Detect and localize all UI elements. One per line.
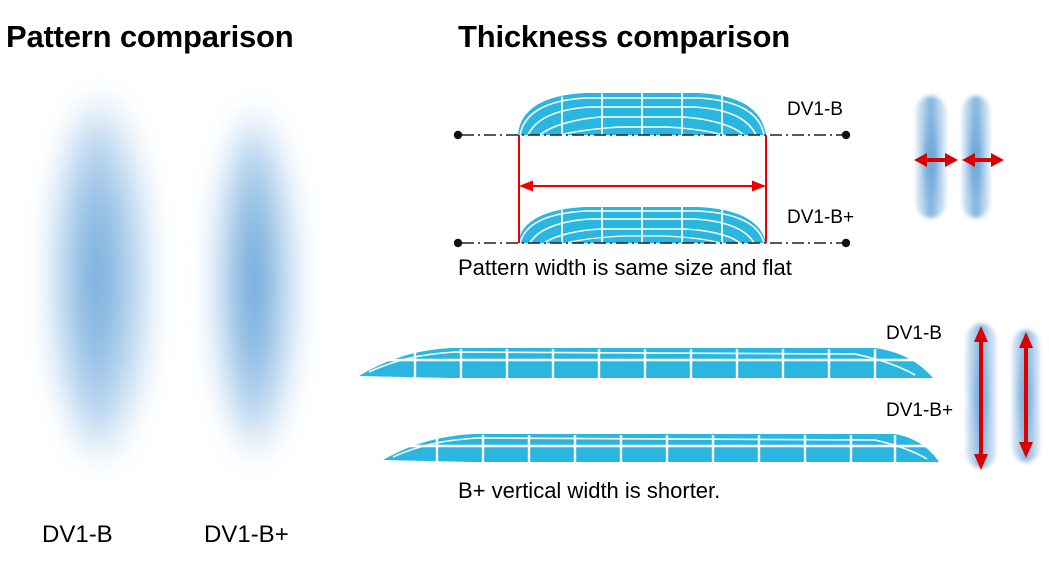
caption-pattern-width: Pattern width is same size and flat <box>458 255 792 281</box>
flat-bar-dv1b <box>359 348 933 378</box>
double-arrow-horizontal-icon-dv1b <box>914 153 958 167</box>
endpoint-dot-icon-top-left <box>454 131 462 139</box>
vertical-width-diagram <box>355 330 935 470</box>
double-arrow-vertical-icon-dv1bplus <box>1019 332 1033 458</box>
endpoint-dot-icon-bottom-right <box>842 239 850 247</box>
dome-label-dv1bplus: DV1-B+ <box>787 207 854 229</box>
bar-label-dv1bplus: DV1-B+ <box>886 400 953 422</box>
pattern-label-dv1b: DV1-B <box>42 521 113 549</box>
pattern-width-arrows <box>906 140 1049 180</box>
endpoint-dot-icon-top-right <box>842 131 850 139</box>
flat-bar-dv1bplus <box>383 434 939 462</box>
endpoint-dot-icon-bottom-left <box>454 239 462 247</box>
page-title-thickness-comparison: Thickness comparison <box>458 19 790 55</box>
double-arrow-horizontal-icon-dv1bplus <box>962 153 1004 167</box>
pattern-pill-dv1b-core <box>74 120 120 438</box>
double-arrow-vertical-icon-dv1b <box>974 326 988 470</box>
caption-vertical-width: B+ vertical width is shorter. <box>458 478 720 504</box>
double-arrow-horizontal-icon-pattern-width <box>519 181 766 192</box>
vertical-width-arrows <box>960 318 1049 478</box>
dome-dv1bplus <box>518 207 766 243</box>
page-title-pattern-comparison: Pattern comparison <box>6 19 294 55</box>
bar-label-dv1b: DV1-B <box>886 323 942 345</box>
dome-label-dv1b: DV1-B <box>787 99 843 121</box>
pattern-pill-dv1bplus-core <box>234 132 274 432</box>
dome-dv1b <box>518 93 766 135</box>
pattern-label-dv1bplus: DV1-B+ <box>204 521 289 549</box>
